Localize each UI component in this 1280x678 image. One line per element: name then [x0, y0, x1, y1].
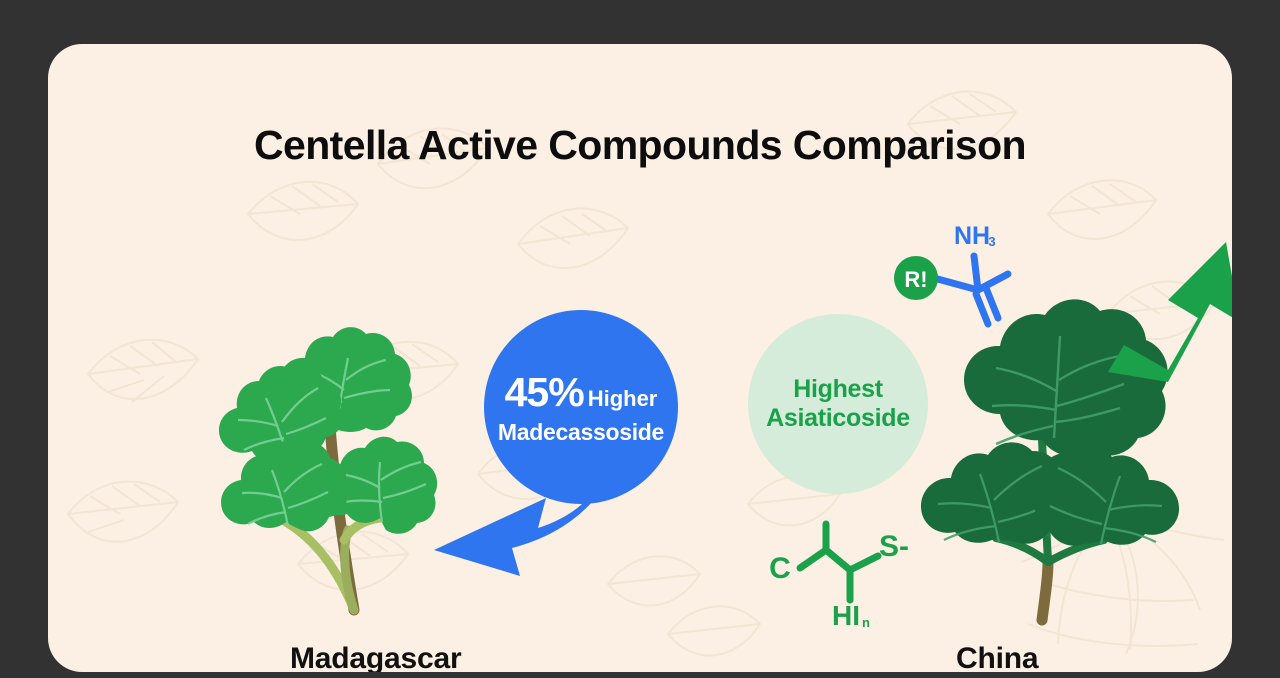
molecule-top-group-subscript: 3 [988, 234, 995, 249]
leaf [221, 441, 347, 531]
blue-callout-headline: 45% Higher [505, 369, 658, 416]
blue-callout-compound: Madecassoside [498, 419, 664, 446]
country-label-madagascar: Madagascar [290, 642, 461, 672]
molecule-top-group-label: NH [954, 222, 990, 250]
molecule-bottom-label-subscript: n [862, 615, 870, 630]
infographic-card: Centella Active Compounds Comparison [48, 44, 1232, 672]
screenshot-canvas: Centella Active Compounds Comparison [0, 0, 1280, 678]
molecule-bottom-label-left: C [769, 552, 791, 585]
leaf [1034, 444, 1179, 545]
green-thiol-molecule-diagram: C S- HI n [754, 512, 924, 632]
mint-callout-line1: Highest [793, 375, 883, 405]
blue-callout-percent: 45% [505, 369, 584, 416]
molecule-r-node-label: R! [904, 267, 927, 292]
blue-callout-madecassoside: 45% Higher Madecassoside [484, 310, 678, 504]
page-title: Centella Active Compounds Comparison [48, 122, 1232, 169]
blue-callout-qualifier: Higher [588, 386, 658, 412]
mint-callout-line2: Asiaticoside [766, 404, 910, 434]
molecule-bottom-label-bottom: HI [832, 600, 860, 631]
country-label-china: China [956, 642, 1038, 672]
growth-arrow-up-right-icon [1106, 232, 1232, 387]
blue-amine-molecule-diagram: NH 3 R! [880, 212, 1030, 332]
molecule-bottom-label-right: S- [879, 530, 909, 563]
mint-callout-asiaticoside: Highest Asiaticoside [748, 314, 928, 494]
